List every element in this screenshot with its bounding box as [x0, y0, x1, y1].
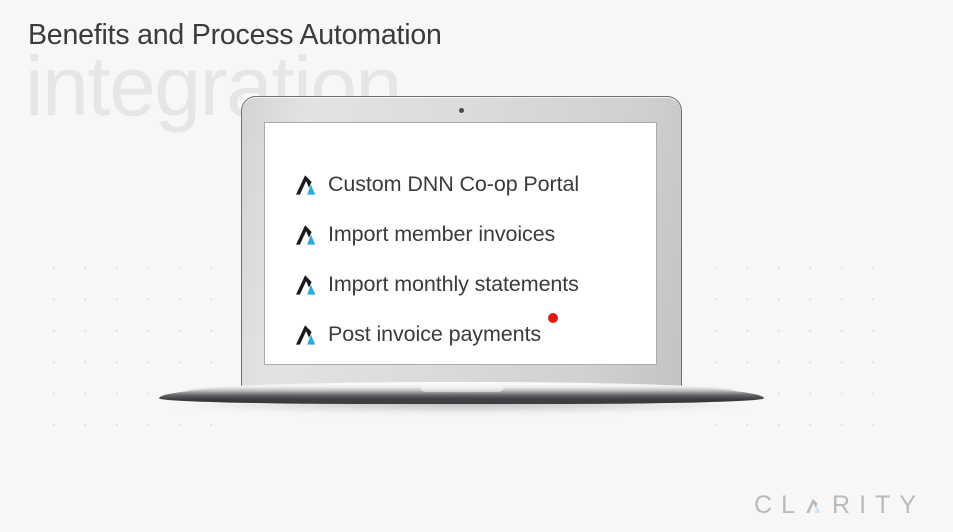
laptop-mockup: Custom DNN Co-op Portal Import member in… — [159, 96, 764, 412]
list-item-label: Import monthly statements — [328, 272, 579, 297]
brand-letter-r: R — [832, 491, 859, 520]
brand-logo: C L R I T Y — [754, 492, 925, 518]
page-title: Benefits and Process Automation — [28, 19, 442, 52]
list-item-label: Post invoice payments — [328, 322, 541, 347]
list-item[interactable]: Post invoice payments — [293, 309, 653, 359]
list-item[interactable]: Import monthly statements — [293, 259, 653, 309]
brand-letter-i: I — [859, 491, 875, 520]
brand-letter-l: L — [781, 491, 804, 520]
brand-letter-y: Y — [899, 491, 925, 520]
clarity-chevron-icon — [804, 495, 823, 517]
clarity-chevron-icon — [293, 172, 319, 198]
brand-letter-c: C — [754, 491, 781, 520]
laptop-lid: Custom DNN Co-op Portal Import member in… — [241, 96, 682, 392]
clarity-chevron-icon — [293, 272, 319, 298]
slide-canvas: integration Benefits and Process Automat… — [0, 0, 953, 532]
laptop-base-notch — [420, 386, 504, 392]
list-item[interactable]: Custom DNN Co-op Portal — [293, 159, 653, 209]
bullet-list: Custom DNN Co-op Portal Import member in… — [293, 159, 653, 359]
list-item-label: Import member invoices — [328, 222, 555, 247]
clarity-chevron-icon — [293, 322, 319, 348]
clarity-chevron-icon — [293, 222, 319, 248]
brand-letter-t: T — [875, 491, 899, 520]
laptop-screen: Custom DNN Co-op Portal Import member in… — [264, 122, 657, 365]
list-item-label: Custom DNN Co-op Portal — [328, 172, 579, 197]
laser-pointer-dot — [548, 313, 558, 323]
list-item[interactable]: Import member invoices — [293, 209, 653, 259]
camera-icon — [459, 108, 464, 113]
laptop-shadow — [167, 400, 756, 414]
